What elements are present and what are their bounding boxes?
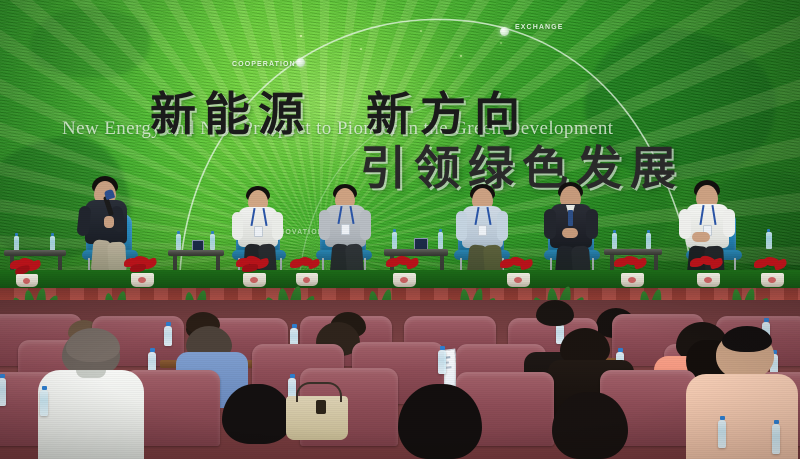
banner-chinese-line-2: 引领绿色发展 (360, 132, 684, 198)
audience-head (552, 392, 628, 459)
conference-stage-photo: COOPERATION EXCHANGE INNOVATION New Ener… (0, 0, 800, 459)
arc-label-exchange: EXCHANGE (515, 24, 563, 31)
handbag-handle (296, 382, 342, 402)
audience-head (222, 384, 292, 444)
collar (76, 370, 106, 378)
audience-head (66, 328, 120, 362)
audience-back (686, 374, 798, 459)
badge (478, 225, 487, 236)
handbag-clasp (316, 400, 326, 414)
audience-white-shirt (38, 370, 144, 459)
audience-head (722, 326, 772, 352)
water-bottle-icon (772, 424, 780, 454)
water-bottle-icon (438, 350, 446, 374)
badge (254, 226, 263, 237)
water-bottle-icon (40, 390, 48, 416)
necktie (568, 210, 573, 226)
audience-head (536, 300, 574, 326)
water-bottle-icon (0, 378, 6, 406)
badge (341, 224, 350, 235)
water-bottle-icon (718, 420, 726, 448)
water-bottle-icon (164, 326, 172, 346)
audience-head (398, 384, 482, 459)
arc-node-dot-icon (296, 58, 305, 67)
arc-node-dot-icon (500, 27, 509, 36)
arc-label-cooperation: COOPERATION (232, 61, 296, 68)
